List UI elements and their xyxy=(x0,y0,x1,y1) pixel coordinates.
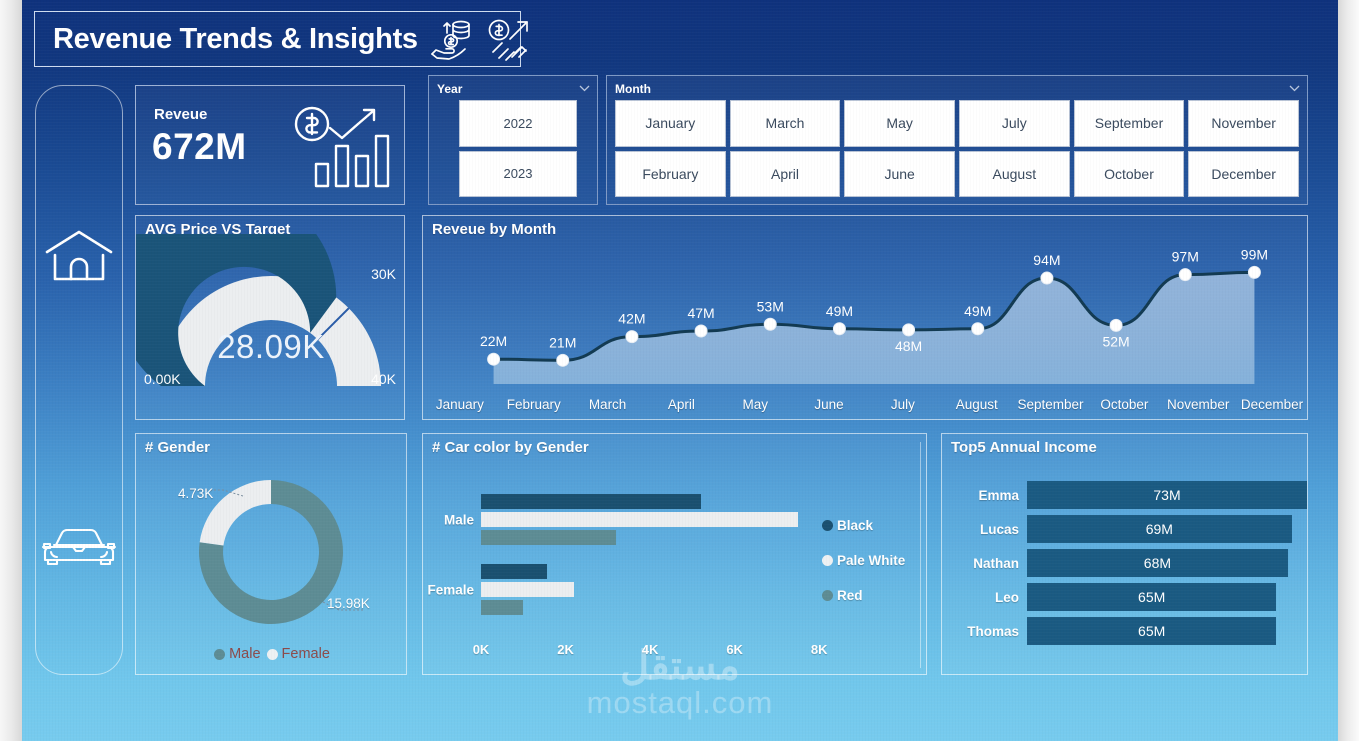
bar-row xyxy=(481,530,853,545)
legend-item-pale-white[interactable]: Pale White xyxy=(822,553,914,568)
slicer-option-august[interactable]: August xyxy=(959,151,1070,198)
report-canvas: Revenue Trends & Insights xyxy=(22,0,1338,741)
gender-donut-card: # Gender 4.73K 15.98K Male Female xyxy=(135,433,407,675)
dollar-bar-chart-icon xyxy=(290,102,390,190)
sidebar-item-car[interactable] xyxy=(40,521,118,574)
legend-label-pale-white: Pale White xyxy=(837,553,905,568)
slicer-option-january[interactable]: January xyxy=(615,100,726,147)
dollar-growth-icon xyxy=(484,17,534,61)
line-data-point xyxy=(1248,266,1260,278)
money-hand-icon xyxy=(428,17,474,61)
legend-swatch-male xyxy=(214,649,225,660)
bar-row: Male xyxy=(481,512,853,527)
bar-category-label: Female xyxy=(427,582,474,597)
gauge-value-label: 28.09K xyxy=(136,328,406,366)
top5-name: Thomas xyxy=(942,624,1027,639)
top5-annual-income-card: Top5 Annual Income Emma73MLucas69MNathan… xyxy=(941,433,1308,675)
bar-group-male: Male xyxy=(481,494,853,548)
table-row[interactable]: Lucas69M xyxy=(942,512,1309,546)
chevron-down-icon[interactable] xyxy=(579,85,590,92)
legend-swatch-female xyxy=(267,649,278,660)
top5-bar[interactable]: 69M xyxy=(1027,515,1292,543)
bar-chart-title: # Car color by Gender xyxy=(432,439,589,456)
slicer-option-2023[interactable]: 2023 xyxy=(459,151,577,198)
line-data-label: 42M xyxy=(618,311,645,327)
slicer-option-november[interactable]: November xyxy=(1188,100,1299,147)
line-chart-x-axis: JanuaryFebruaryMarchAprilMayJuneJulyAugu… xyxy=(423,393,1309,415)
line-data-label: 94M xyxy=(1033,252,1060,268)
bar-black[interactable] xyxy=(481,564,547,579)
line-data-point xyxy=(972,323,984,335)
bar-chart-legend: Black Pale White Red xyxy=(822,518,914,623)
line-axis-tick: February xyxy=(497,397,571,412)
legend-label-red: Red xyxy=(837,588,863,603)
line-data-point xyxy=(833,323,845,335)
gauge-max-label: 40K xyxy=(371,371,396,387)
line-data-label: 99M xyxy=(1241,246,1268,262)
line-data-point xyxy=(1110,319,1122,331)
table-row[interactable]: Nathan68M xyxy=(942,546,1309,580)
slicer-year[interactable]: Year 2022 2023 xyxy=(428,75,598,205)
top5-bar[interactable]: 65M xyxy=(1027,617,1276,645)
donut-title: # Gender xyxy=(145,439,210,456)
bar-axis-tick: 6K xyxy=(726,642,743,657)
dashboard-root: Revenue Trends & Insights xyxy=(0,0,1359,741)
slicer-option-june[interactable]: June xyxy=(844,151,955,198)
bar-axis-tick: 4K xyxy=(642,642,659,657)
slicer-option-2022[interactable]: 2022 xyxy=(459,100,577,147)
line-data-point xyxy=(1041,272,1053,284)
legend-label-male: Male xyxy=(229,646,260,662)
bar-red[interactable] xyxy=(481,600,523,615)
donut-legend: Male Female xyxy=(136,646,408,662)
donut-label-male: 15.98K xyxy=(327,596,370,611)
table-row[interactable]: Thomas65M xyxy=(942,614,1309,648)
line-axis-tick: January xyxy=(423,397,497,412)
bar-group-female: Female xyxy=(481,564,853,618)
line-axis-tick: November xyxy=(1161,397,1235,412)
legend-swatch-black xyxy=(822,520,833,531)
slicer-option-march[interactable]: March xyxy=(730,100,841,147)
page-title: Revenue Trends & Insights xyxy=(53,23,418,56)
bar-row xyxy=(481,494,853,509)
line-axis-tick: July xyxy=(866,397,940,412)
line-data-label: 48M xyxy=(895,338,922,354)
gauge-svg xyxy=(136,234,406,419)
line-axis-tick: May xyxy=(718,397,792,412)
line-data-label: 49M xyxy=(826,303,853,319)
watermark-latin: mostaql.com xyxy=(587,687,774,720)
legend-item-red[interactable]: Red xyxy=(822,588,914,603)
top5-bar[interactable]: 68M xyxy=(1027,549,1288,577)
car-color-by-gender-card: # Car color by Gender Male Female 0K2K4K… xyxy=(422,433,927,675)
legend-label-black: Black xyxy=(837,518,873,533)
slicer-year-options: 2022 2023 xyxy=(459,100,577,197)
line-data-point xyxy=(626,331,638,343)
line-data-label: 52M xyxy=(1102,333,1129,349)
legend-item-black[interactable]: Black xyxy=(822,518,914,533)
top5-list: Emma73MLucas69MNathan68MLeo65MThomas65M xyxy=(942,478,1309,648)
kpi-card-revenue: Reveue 672M xyxy=(135,85,405,205)
page-margin-right xyxy=(1338,0,1359,741)
slicer-option-october[interactable]: October xyxy=(1074,151,1185,198)
top5-name: Lucas xyxy=(942,522,1027,537)
slicer-option-february[interactable]: February xyxy=(615,151,726,198)
home-icon xyxy=(43,226,115,286)
line-axis-tick: December xyxy=(1235,397,1309,412)
chevron-down-icon[interactable] xyxy=(1289,85,1300,92)
bar-category-label: Male xyxy=(444,512,474,527)
gauge-target-label: 30K xyxy=(371,266,396,282)
slicer-option-december[interactable]: December xyxy=(1188,151,1299,198)
slicer-month[interactable]: Month January March May July September N… xyxy=(606,75,1308,205)
legend-swatch-pale-white xyxy=(822,555,833,566)
revenue-by-month-card: Reveue by Month 22M21M42M47M53M49M48M49M… xyxy=(422,215,1308,420)
car-icon xyxy=(40,521,118,569)
kpi-label: Reveue xyxy=(154,106,207,123)
gauge-card: AVG Price VS Target 28.09K 0.00K 40K 30K xyxy=(135,215,405,420)
line-data-label: 97M xyxy=(1172,249,1199,265)
slicer-month-options: January March May July September Novembe… xyxy=(615,100,1299,197)
slicer-option-april[interactable]: April xyxy=(730,151,841,198)
table-row[interactable]: Emma73M xyxy=(942,478,1309,512)
kpi-value: 672M xyxy=(152,126,247,168)
bar-row xyxy=(481,600,853,615)
donut-label-female: 4.73K xyxy=(178,486,213,501)
line-data-label: 47M xyxy=(687,305,714,321)
bar-pale-white[interactable] xyxy=(481,512,798,527)
legend-label-female: Female xyxy=(282,646,330,662)
slicer-year-title: Year xyxy=(437,82,462,96)
line-axis-tick: March xyxy=(571,397,645,412)
line-data-point xyxy=(488,353,500,365)
slicer-month-title: Month xyxy=(615,82,651,96)
line-data-label: 21M xyxy=(549,334,576,350)
line-data-point xyxy=(1179,269,1191,281)
bar-row: Female xyxy=(481,582,853,597)
line-axis-tick: September xyxy=(1014,397,1088,412)
bar-axis-tick: 0K xyxy=(473,642,490,657)
slicer-option-may[interactable]: May xyxy=(844,100,955,147)
top5-title: Top5 Annual Income xyxy=(951,439,1097,456)
line-data-point xyxy=(695,325,707,337)
gauge-min-label: 0.00K xyxy=(144,371,181,387)
top5-name: Leo xyxy=(942,590,1027,605)
page-margin-left xyxy=(0,0,22,741)
line-data-point xyxy=(557,354,569,366)
top5-bar[interactable]: 73M xyxy=(1027,481,1307,509)
legend-item-male[interactable]: Male xyxy=(214,646,260,662)
legend-swatch-red xyxy=(822,590,833,601)
line-data-label: 53M xyxy=(757,298,784,314)
bar-pale-white[interactable] xyxy=(481,582,574,597)
top5-bar[interactable]: 65M xyxy=(1027,583,1276,611)
line-axis-tick: June xyxy=(792,397,866,412)
bar-axis-tick: 2K xyxy=(557,642,574,657)
revenue-line-chart: 22M21M42M47M53M49M48M49M94M52M97M99M xyxy=(423,236,1309,396)
report-header: Revenue Trends & Insights xyxy=(34,11,521,67)
bar-chart-plot: Male Female xyxy=(481,486,853,616)
top5-name: Nathan xyxy=(942,556,1027,571)
bar-chart-x-axis: 0K2K4K6K8K xyxy=(481,642,853,658)
table-row[interactable]: Leo65M xyxy=(942,580,1309,614)
bar-row xyxy=(481,564,853,579)
line-data-label: 22M xyxy=(480,333,507,349)
bar-red[interactable] xyxy=(481,530,616,545)
sidebar-item-home[interactable] xyxy=(43,226,115,291)
legend-item-female[interactable]: Female xyxy=(267,646,330,662)
legend-divider xyxy=(920,442,921,668)
line-data-label: 49M xyxy=(964,303,991,319)
gauge-chart xyxy=(136,234,406,419)
bar-axis-tick: 8K xyxy=(811,642,828,657)
sidebar-nav xyxy=(35,85,123,675)
line-axis-tick: August xyxy=(940,397,1014,412)
line-data-point xyxy=(903,324,915,336)
line-data-point xyxy=(764,318,776,330)
top5-name: Emma xyxy=(942,488,1027,503)
line-axis-tick: October xyxy=(1087,397,1161,412)
slicer-option-july[interactable]: July xyxy=(959,100,1070,147)
slicer-option-september[interactable]: September xyxy=(1074,100,1185,147)
bar-black[interactable] xyxy=(481,494,701,509)
line-axis-tick: April xyxy=(644,397,718,412)
